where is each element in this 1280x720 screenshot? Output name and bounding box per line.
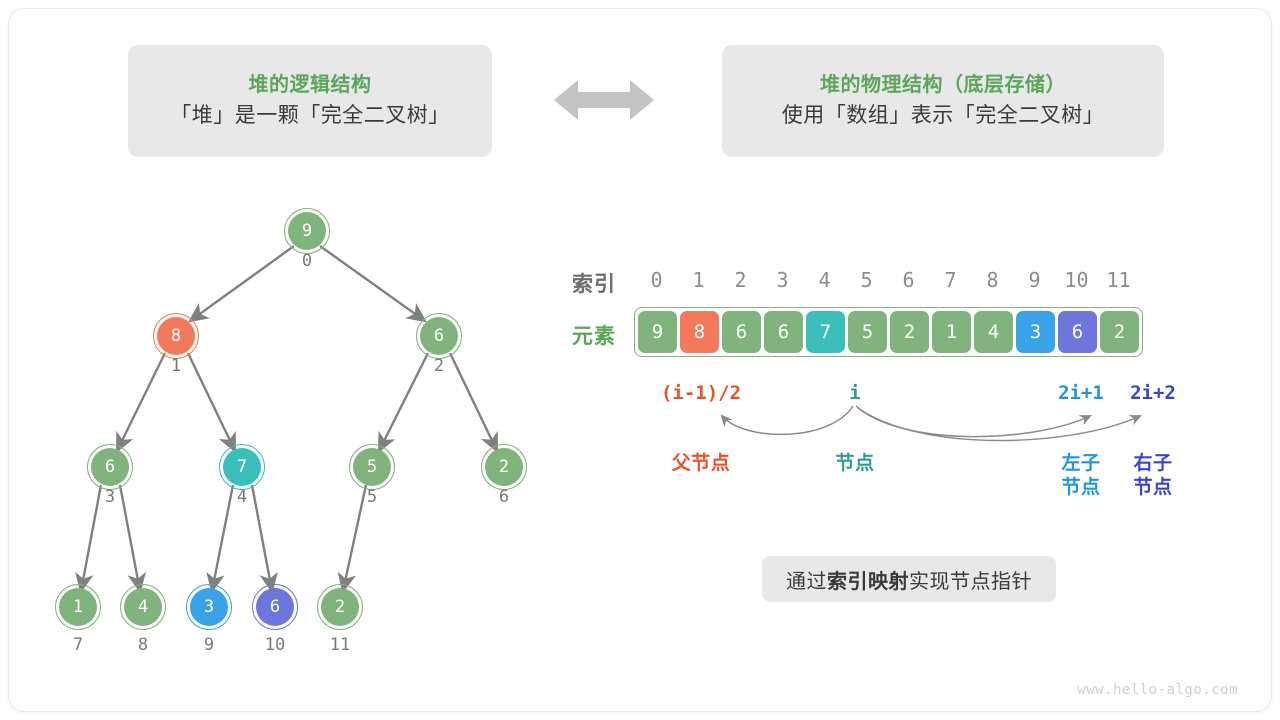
right-child-role-line2: 节点 [1117,476,1189,500]
array-index-label: 5 [852,268,882,292]
watermark: www.hello-algo.com [1077,682,1238,698]
array-index-label: 11 [1104,268,1134,292]
left-child-role-line1: 左子 [1045,452,1117,476]
array-index-label: 1 [684,268,714,292]
array-index-label: 10 [1062,268,1092,292]
array-cell: 6 [1058,311,1097,353]
array-cell: 1 [932,311,971,353]
caption-bold: 索引映射 [827,565,909,594]
tree-node-value: 8 [171,326,181,346]
array-index-label: 2 [726,268,756,292]
array-cell: 6 [764,311,803,353]
diagram-canvas: 堆的逻辑结构 「堆」是一颗「完全二叉树」 堆的物理结构（底层存储） 使用「数组」… [0,0,1280,720]
tree-node-value: 6 [105,457,115,477]
array-index-label: 4 [810,268,840,292]
array-index-label: 3 [768,268,798,292]
left-child-role-line2: 节点 [1045,476,1117,500]
array-diagram: 索引 元素 01234567891011 986675214362 (i-1)/… [0,0,1280,720]
array-cell: 9 [638,311,677,353]
tree-node-value: 4 [138,597,148,617]
array-cell: 8 [680,311,719,353]
tree-node-value: 9 [302,221,312,241]
right-child-role-label: 右子 节点 [1117,452,1189,500]
right-child-role-line1: 右子 [1117,452,1189,476]
array-index-label: 9 [1020,268,1050,292]
tree-node-value: 3 [204,597,214,617]
array-index-row-label: 索引 [572,268,616,298]
tree-node-value: 7 [237,457,247,477]
array-index-label: 6 [894,268,924,292]
array-index-label: 8 [978,268,1008,292]
array-index-label: 7 [936,268,966,292]
array-cell: 2 [1100,311,1139,353]
caption-suffix: 实现节点指针 [909,565,1032,594]
caption-prefix: 通过 [786,565,827,594]
array-cell: 4 [974,311,1013,353]
tree-node-value: 6 [270,597,280,617]
tree-node-value: 2 [499,457,509,477]
array-cell: 5 [848,311,887,353]
caption-banner: 通过索引映射实现节点指针 [762,556,1056,602]
tree-node-value: 2 [335,597,345,617]
self-role-label: 节点 [812,452,898,476]
tree-node-value: 5 [367,457,377,477]
array-cell: 3 [1016,311,1055,353]
tree-node-value: 1 [73,597,83,617]
array-element-row-label: 元素 [572,320,616,350]
left-child-role-label: 左子 节点 [1045,452,1117,500]
array-container: 986675214362 [634,307,1143,357]
array-cell: 2 [890,311,929,353]
parent-role-label: 父节点 [640,452,762,476]
array-index-label: 0 [642,268,672,292]
tree-node-value: 6 [434,326,444,346]
array-cell: 7 [806,311,845,353]
array-cell: 6 [722,311,761,353]
